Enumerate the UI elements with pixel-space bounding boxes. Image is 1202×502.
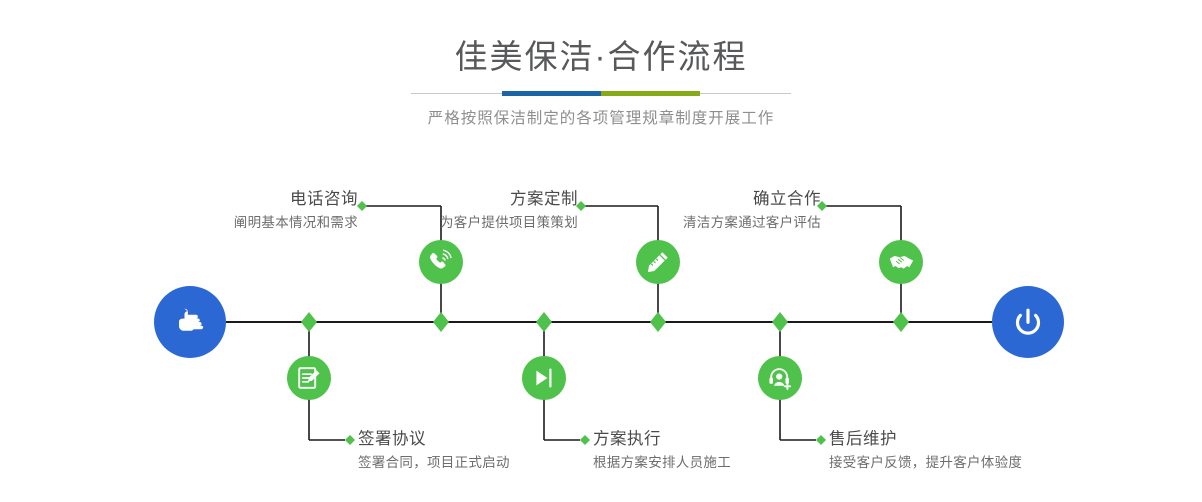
pointing-hand-icon (170, 302, 210, 342)
label-diamond-step-2 (345, 435, 355, 445)
axis-diamond-4 (650, 312, 666, 332)
label-step-1-desc: 阐明基本情况和需求 (98, 213, 358, 233)
handshake-icon (888, 249, 915, 276)
contract-edit-icon (296, 365, 322, 391)
label-step-1: 电话咨询 阐明基本情况和需求 (98, 188, 358, 233)
label-step-5-title: 确立合作 (563, 188, 821, 210)
process-flow: 电话咨询 阐明基本情况和需求 方案定制 为客户提供项目策策划 确立合作 (0, 0, 1202, 502)
label-step-3-title: 方案定制 (320, 188, 578, 210)
power-icon (1008, 302, 1048, 342)
node-circle-step-3[interactable] (636, 240, 680, 284)
node-circle-step-4[interactable] (522, 356, 566, 400)
play-execute-icon (531, 365, 557, 391)
phone-ring-icon (428, 249, 454, 275)
node-circle-step-2[interactable] (287, 356, 331, 400)
label-step-6-title: 售后维护 (829, 428, 1169, 450)
label-step-5-desc: 清洁方案通过客户评估 (563, 213, 821, 233)
end-node[interactable] (992, 286, 1064, 358)
label-step-1-title: 电话咨询 (98, 188, 358, 210)
axis-diamond-6 (893, 312, 909, 332)
flow-connectors (0, 0, 1202, 502)
axis-diamond-3 (536, 312, 552, 332)
node-circle-step-6[interactable] (758, 356, 802, 400)
label-step-6-desc: 接受客户反馈，提升客户体验度 (829, 453, 1169, 473)
axis-diamond-5 (772, 312, 788, 332)
label-step-6: 售后维护 接受客户反馈，提升客户体验度 (829, 428, 1169, 473)
label-step-3-desc: 为客户提供项目策策划 (320, 213, 578, 233)
cooperation-process-infographic: 佳美保洁·合作流程 严格按照保洁制定的各项管理规章制度开展工作 (0, 0, 1202, 502)
label-step-3: 方案定制 为客户提供项目策策划 (320, 188, 578, 233)
label-step-5: 确立合作 清洁方案通过客户评估 (563, 188, 821, 233)
pencil-ruler-icon (645, 249, 671, 275)
customer-service-add-icon (767, 365, 794, 392)
start-node[interactable] (154, 286, 226, 358)
node-circle-step-5[interactable] (879, 240, 923, 284)
axis-diamond-1 (301, 312, 317, 332)
node-circle-step-1[interactable] (419, 240, 463, 284)
axis-diamond-2 (433, 312, 449, 332)
